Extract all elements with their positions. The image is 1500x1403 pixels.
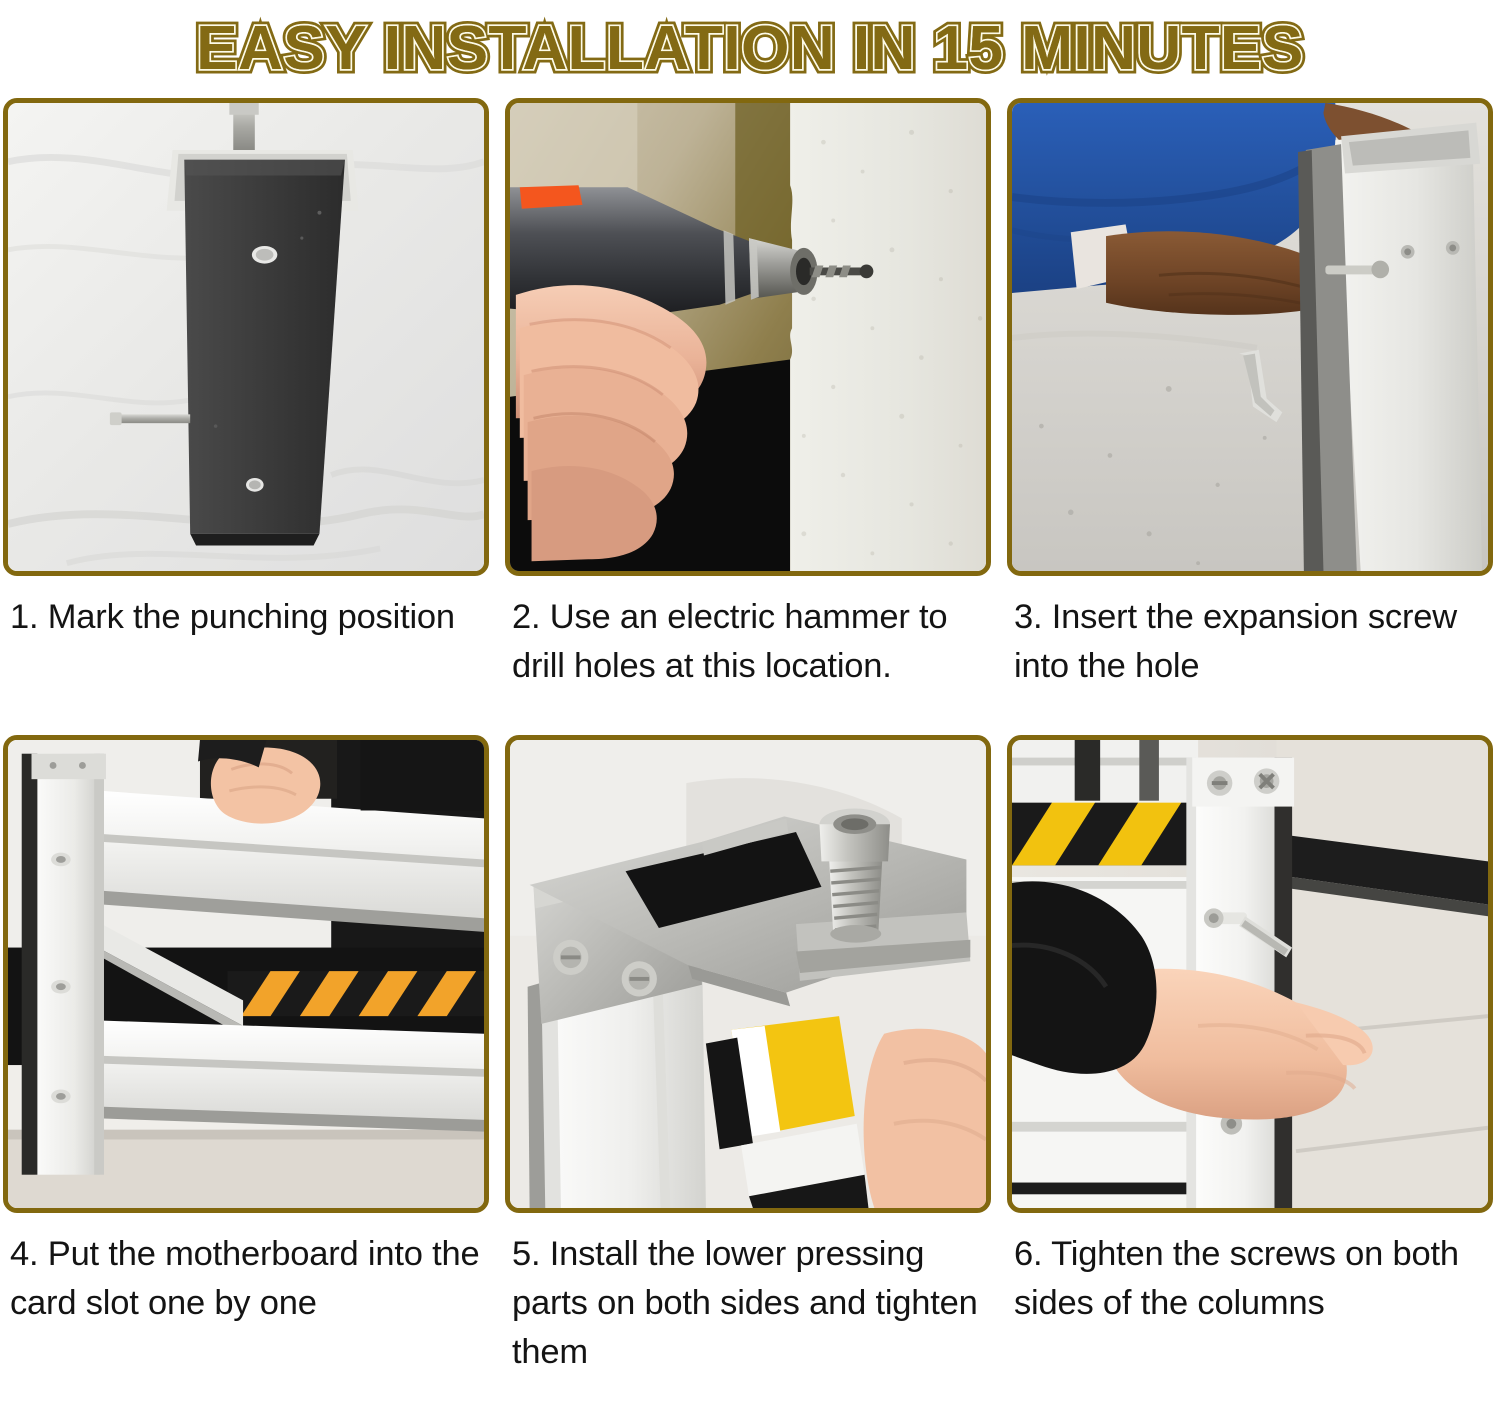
step-caption-5: 5. Install the lower pressing parts on b… xyxy=(505,1213,1000,1380)
row-spacer xyxy=(0,711,1500,735)
photo-insert-motherboard xyxy=(3,735,489,1213)
photo-insert-expansion-screw xyxy=(1007,98,1493,576)
step-caption-4: 4. Put the motherboard into the card slo… xyxy=(3,1213,498,1380)
step-caption-6: 6. Tighten the screws on both sides of t… xyxy=(1007,1213,1500,1380)
step-card-4: 4. Put the motherboard into the card slo… xyxy=(3,735,498,1380)
photo-mark-punching-position xyxy=(3,98,489,576)
photo-drill-holes xyxy=(505,98,991,576)
step-card-6: 6. Tighten the screws on both sides of t… xyxy=(1007,735,1500,1380)
photo-install-pressing-parts xyxy=(505,735,991,1213)
title-banner: EASY INSTALLATION IN 15 MINUTES EASY INS… xyxy=(0,0,1500,98)
steps-row-bottom: 4. Put the motherboard into the card slo… xyxy=(0,735,1500,1380)
title-text-wrap: EASY INSTALLATION IN 15 MINUTES EASY INS… xyxy=(196,18,1304,80)
step-caption-2: 2. Use an electric hammer to drill holes… xyxy=(505,576,1000,711)
photo-tighten-screws xyxy=(1007,735,1493,1213)
step-card-2: 2. Use an electric hammer to drill holes… xyxy=(505,98,1000,711)
step-card-5: 5. Install the lower pressing parts on b… xyxy=(505,735,1000,1380)
step-caption-1: 1. Mark the punching position xyxy=(3,576,498,711)
steps-row-top: 1. Mark the punching position xyxy=(0,98,1500,711)
page-title-fill: EASY INSTALLATION IN 15 MINUTES xyxy=(196,18,1304,80)
step-caption-3: 3. Insert the expansion screw into the h… xyxy=(1007,576,1500,711)
step-card-1: 1. Mark the punching position xyxy=(3,98,498,711)
step-card-3: 3. Insert the expansion screw into the h… xyxy=(1007,98,1500,711)
